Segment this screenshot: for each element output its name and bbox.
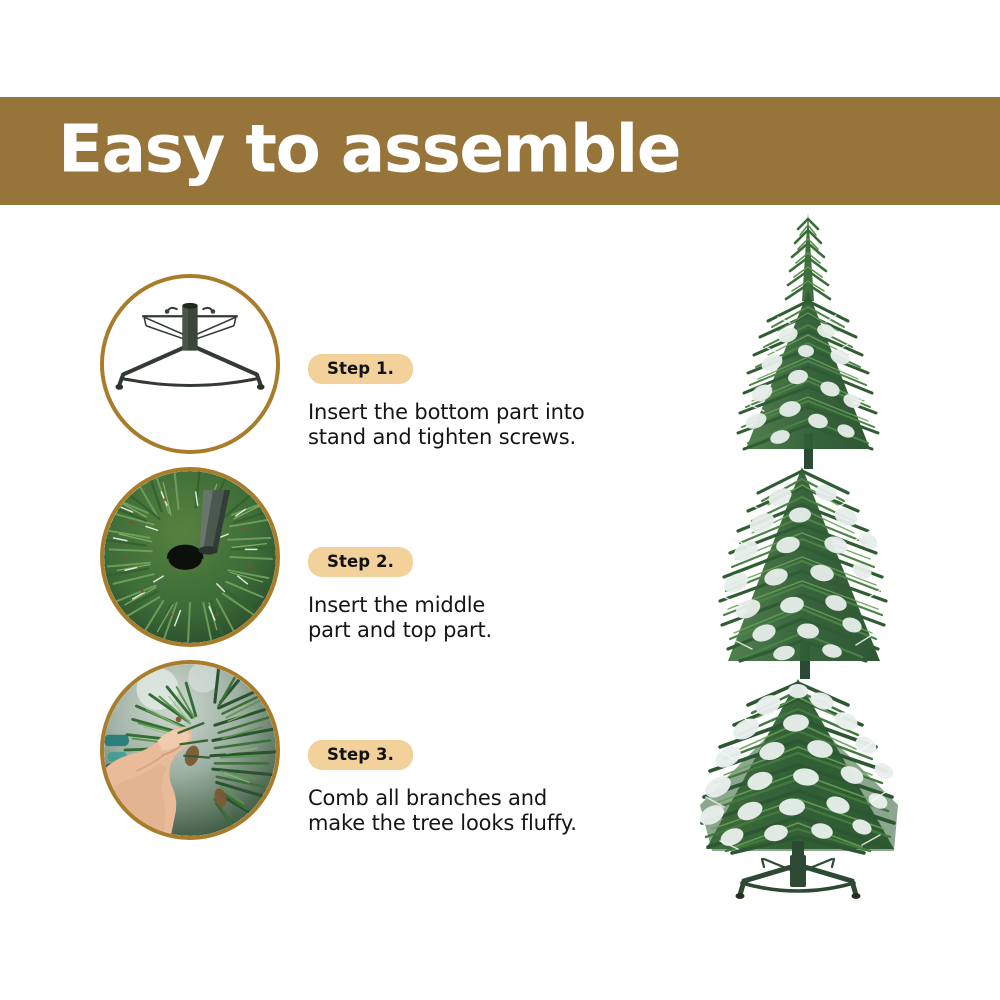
pole-insert-photo-inner (104, 471, 276, 643)
pole-insert-illustration (104, 471, 276, 643)
step-2-description: Insert the middle part and top part. (308, 593, 608, 642)
step-2-line-1: Insert the middle (308, 593, 608, 618)
pole-insert-photo (100, 467, 280, 647)
step-3-line-2: make the tree looks fluffy. (308, 811, 608, 836)
step-1-line-2: stand and tighten screws. (308, 425, 608, 450)
step-2-text: Step 2. Insert the middle part and top p… (308, 547, 608, 642)
step-1-text: Step 1. Insert the bottom part into stan… (308, 354, 608, 449)
tree-stand-photo-inner (104, 278, 276, 450)
step-2-badge: Step 2. (308, 547, 413, 577)
step-3-badge: Step 3. (308, 740, 413, 770)
page-title: Easy to assemble (58, 117, 680, 183)
step-2-line-2: part and top part. (308, 618, 608, 643)
step-1-line-1: Insert the bottom part into (308, 400, 608, 425)
step-1-description: Insert the bottom part into stand and ti… (308, 400, 608, 449)
tree-stand-photo (100, 274, 280, 454)
step-1-badge: Step 1. (308, 354, 413, 384)
comb-branches-illustration (104, 664, 276, 836)
step-3-line-1: Comb all branches and (308, 786, 608, 811)
snow-tipped-christmas-tree-illustration (640, 205, 1000, 905)
header-banner: Easy to assemble (0, 97, 1000, 205)
tree-stand-illustration (104, 278, 276, 450)
comb-branches-photo-inner (104, 664, 276, 836)
step-item-1: Step 1. Insert the bottom part into stan… (0, 274, 620, 466)
step-item-2: Step 2. Insert the middle part and top p… (0, 467, 620, 659)
step-item-3: Step 3. Comb all branches and make the t… (0, 660, 620, 852)
comb-branches-photo (100, 660, 280, 840)
step-3-text: Step 3. Comb all branches and make the t… (308, 740, 608, 835)
christmas-tree-product-photo (640, 205, 1000, 905)
step-3-description: Comb all branches and make the tree look… (308, 786, 608, 835)
assembly-steps-list: Step 1. Insert the bottom part into stan… (0, 262, 620, 862)
